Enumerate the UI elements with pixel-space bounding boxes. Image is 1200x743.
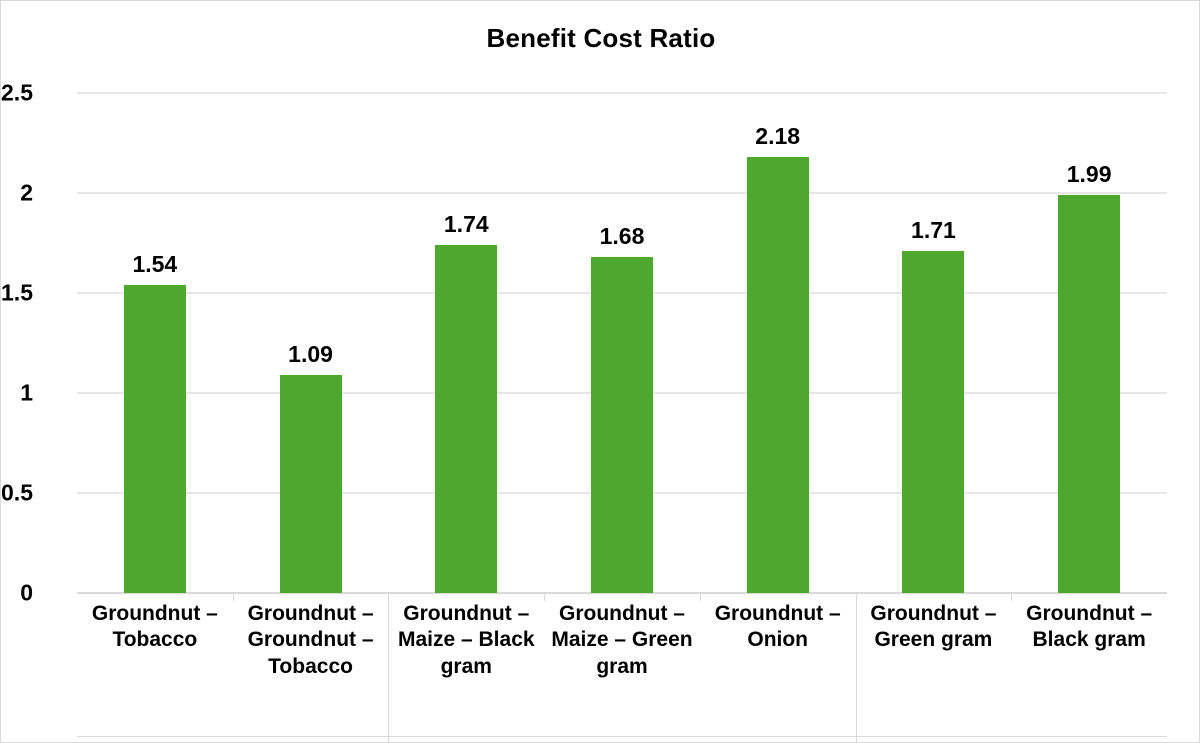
bar-group: 1.74 <box>388 93 544 593</box>
x-axis-category-label: Groundnut – Tobacco <box>77 594 233 729</box>
y-axis-tick-label: 1.5 <box>0 280 33 307</box>
bar[interactable] <box>1058 195 1120 593</box>
bar-value-label: 1.74 <box>444 211 489 238</box>
bar-group: 1.71 <box>856 93 1012 593</box>
y-axis-tick-label: 0.5 <box>0 480 33 507</box>
x-axis-group-labels: ZoneNorth IndiaOthers <box>77 736 1167 743</box>
bar-group: 2.18 <box>700 93 856 593</box>
bar-value-label: 1.99 <box>1067 161 1112 188</box>
bar[interactable] <box>124 285 186 593</box>
bar-group: 1.54 <box>77 93 233 593</box>
bar-group: 1.68 <box>544 93 700 593</box>
bar-value-label: 1.09 <box>288 341 333 368</box>
x-axis-tickmark <box>700 594 701 601</box>
y-axis-tick-label: 2.5 <box>0 80 33 107</box>
x-axis-tickmark <box>233 594 234 601</box>
x-axis-category-labels: Groundnut – TobaccoGroundnut – Groundnut… <box>77 593 1167 743</box>
bar-value-label: 1.71 <box>911 217 956 244</box>
x-axis-category-label: Groundnut – Maize – Black gram <box>388 594 544 729</box>
group-divider <box>388 594 389 743</box>
bar-value-label: 1.68 <box>600 223 645 250</box>
y-axis-tick-label: 1 <box>0 380 33 407</box>
bar[interactable] <box>591 257 653 593</box>
x-axis-category-label: Groundnut – Black gram <box>1011 594 1167 729</box>
x-axis-category-label: Groundnut – Maize – Green gram <box>544 594 700 729</box>
bar-value-label: 1.54 <box>132 251 177 278</box>
bar-value-label: 2.18 <box>755 123 800 150</box>
x-axis-tickmark <box>1011 594 1012 601</box>
bar[interactable] <box>435 245 497 593</box>
chart-container: Benefit Cost Ratio 2.521.510.50 1.541.09… <box>0 0 1200 743</box>
bar[interactable] <box>747 157 809 593</box>
y-axis-tick-label: 0 <box>0 580 33 607</box>
x-axis-category-label: Groundnut – Onion <box>700 594 856 729</box>
chart-title: Benefit Cost Ratio <box>1 23 1200 54</box>
y-axis-tick-label: 2 <box>0 180 33 207</box>
x-axis-tickmark <box>544 594 545 601</box>
bar[interactable] <box>902 251 964 593</box>
bar[interactable] <box>280 375 342 593</box>
x-axis-category-label: Groundnut – Green gram <box>856 594 1012 729</box>
x-axis-category-label: Groundnut – Groundnut – Tobacco <box>233 594 389 729</box>
plot-area: 2.521.510.50 1.541.091.741.682.181.711.9… <box>77 93 1167 593</box>
bar-group: 1.99 <box>1011 93 1167 593</box>
bar-series: 1.541.091.741.682.181.711.99 <box>77 93 1167 593</box>
group-divider <box>856 594 857 743</box>
bar-group: 1.09 <box>233 93 389 593</box>
